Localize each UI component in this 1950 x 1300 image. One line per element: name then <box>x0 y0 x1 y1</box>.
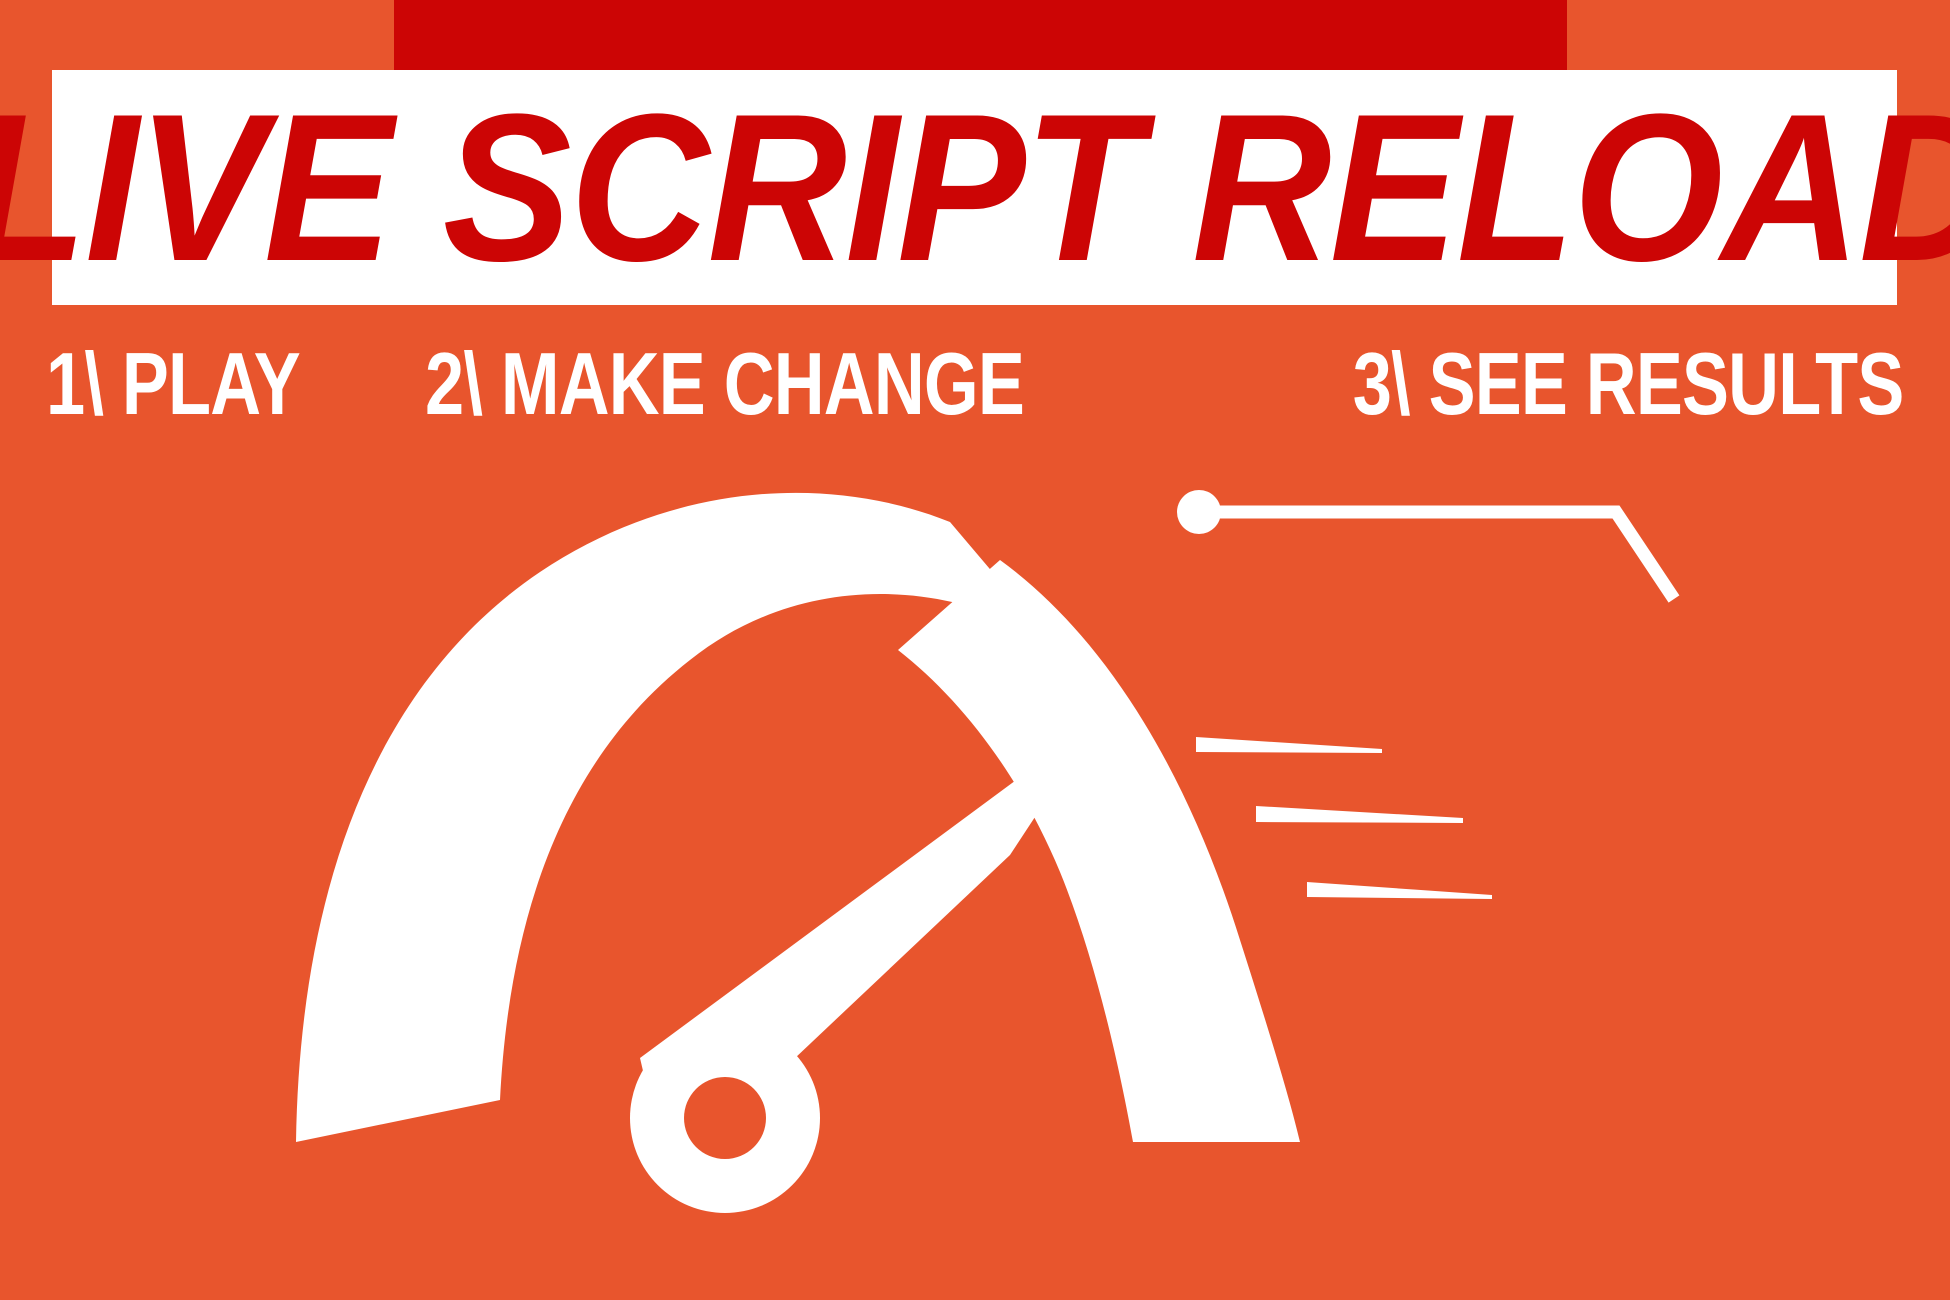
speed-lines-group <box>1196 737 1492 899</box>
step-item-make-change: 2\ MAKE CHANGE <box>425 340 1024 428</box>
gauge-arc-left <box>296 493 1050 1142</box>
page-title: LIVE SCRIPT RELOAD <box>126 70 1823 305</box>
header-accent-block <box>394 0 1567 70</box>
speed-line-3 <box>1307 882 1492 899</box>
speed-line-1 <box>1196 737 1382 753</box>
step-item-play: 1\ PLAY <box>46 340 300 428</box>
connector-line-group <box>1177 490 1674 599</box>
speed-line-2 <box>1256 806 1463 823</box>
speedometer-icon <box>296 493 1300 1213</box>
step-item-see-results: 3\ SEE RESULTS <box>1353 340 1904 428</box>
gauge-hub-outer <box>630 1023 820 1213</box>
steps-row: 1\ PLAY 2\ MAKE CHANGE 3\ SEE RESULTS <box>46 338 1904 430</box>
gauge-hub-hole <box>684 1077 766 1159</box>
title-band: LIVE SCRIPT RELOAD <box>52 70 1897 305</box>
gauge-arc-right <box>898 560 1300 1142</box>
gauge-needle <box>640 718 1100 1178</box>
connector-dot-icon <box>1177 490 1221 534</box>
connector-elbow-icon <box>1199 512 1674 599</box>
poster-canvas: LIVE SCRIPT RELOAD 1\ PLAY 2\ MAKE CHANG… <box>0 0 1950 1300</box>
